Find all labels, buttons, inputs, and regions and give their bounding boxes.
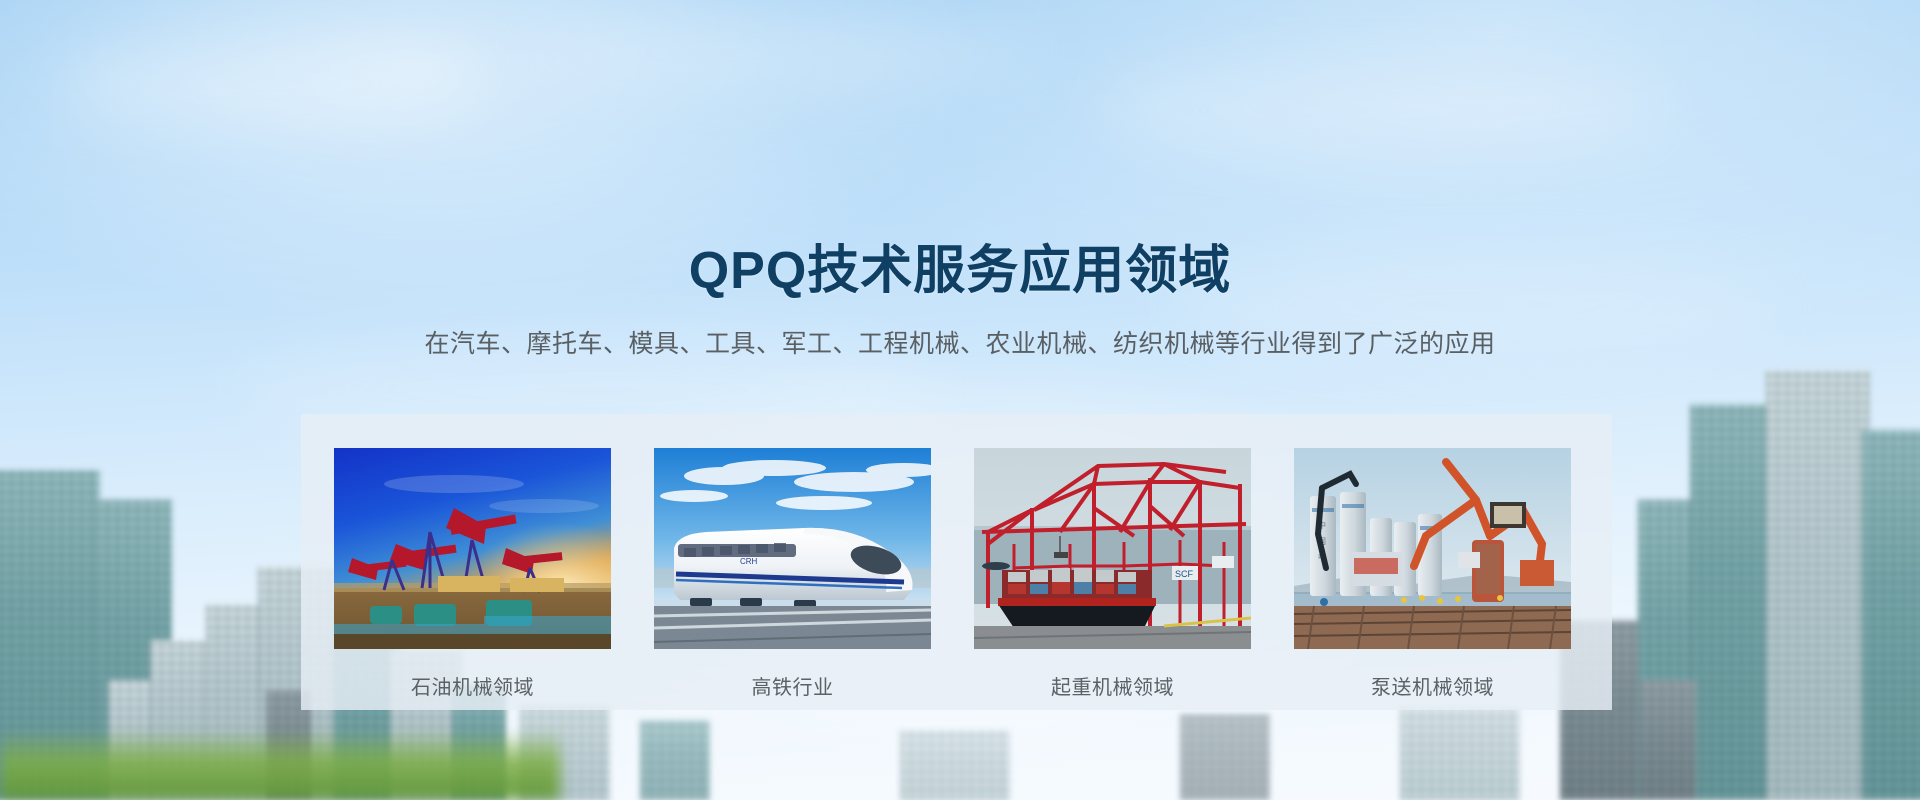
cloud-wisp — [60, 40, 480, 130]
list-item[interactable]: 中国中 — [1294, 448, 1571, 700]
list-item[interactable]: CRH 高铁行业 — [654, 448, 931, 700]
page-subtitle: 在汽车、摩托车、模具、工具、军工、工程机械、农业机械、纺织机械等行业得到了广泛的… — [0, 324, 1920, 360]
skyline-building — [1640, 680, 1696, 800]
card-caption: 高铁行业 — [654, 671, 931, 700]
page-title: QPQ技术服务应用领域 — [0, 228, 1920, 303]
skyline-building — [1690, 404, 1776, 800]
card-list: 石油机械领域 — [334, 448, 1571, 700]
card-caption: 起重机械领域 — [974, 671, 1251, 700]
cloud-wisp — [520, 18, 1040, 88]
skyline-building — [1180, 714, 1270, 800]
list-item[interactable]: SCF 起重机械领域 — [974, 448, 1251, 700]
foreground-foliage — [0, 730, 560, 800]
card-caption: 石油机械领域 — [334, 671, 611, 700]
svg-text:SCF: SCF — [1175, 569, 1194, 579]
application-fields-panel: 石油机械领域 — [301, 414, 1612, 710]
skyline-building — [1400, 708, 1520, 800]
port-gantry-cranes-photo[interactable]: SCF — [974, 448, 1251, 649]
skyline-building — [1862, 430, 1920, 800]
oil-pumpjacks-photo[interactable] — [334, 448, 611, 649]
skyline-building — [640, 720, 710, 800]
skyline-building — [900, 730, 1010, 800]
svg-text:CRH: CRH — [740, 557, 758, 566]
cloud-wisp — [1100, 60, 1660, 160]
high-speed-train-photo[interactable]: CRH — [654, 448, 931, 649]
list-item[interactable]: 石油机械领域 — [334, 448, 611, 700]
page-stage: QPQ技术服务应用领域 在汽车、摩托车、模具、工具、军工、工程机械、农业机械、纺… — [0, 0, 1920, 800]
card-caption: 泵送机械领域 — [1294, 671, 1571, 700]
skyline-building — [1766, 370, 1870, 800]
concrete-pump-machinery-photo[interactable]: 中国中 — [1294, 448, 1571, 649]
